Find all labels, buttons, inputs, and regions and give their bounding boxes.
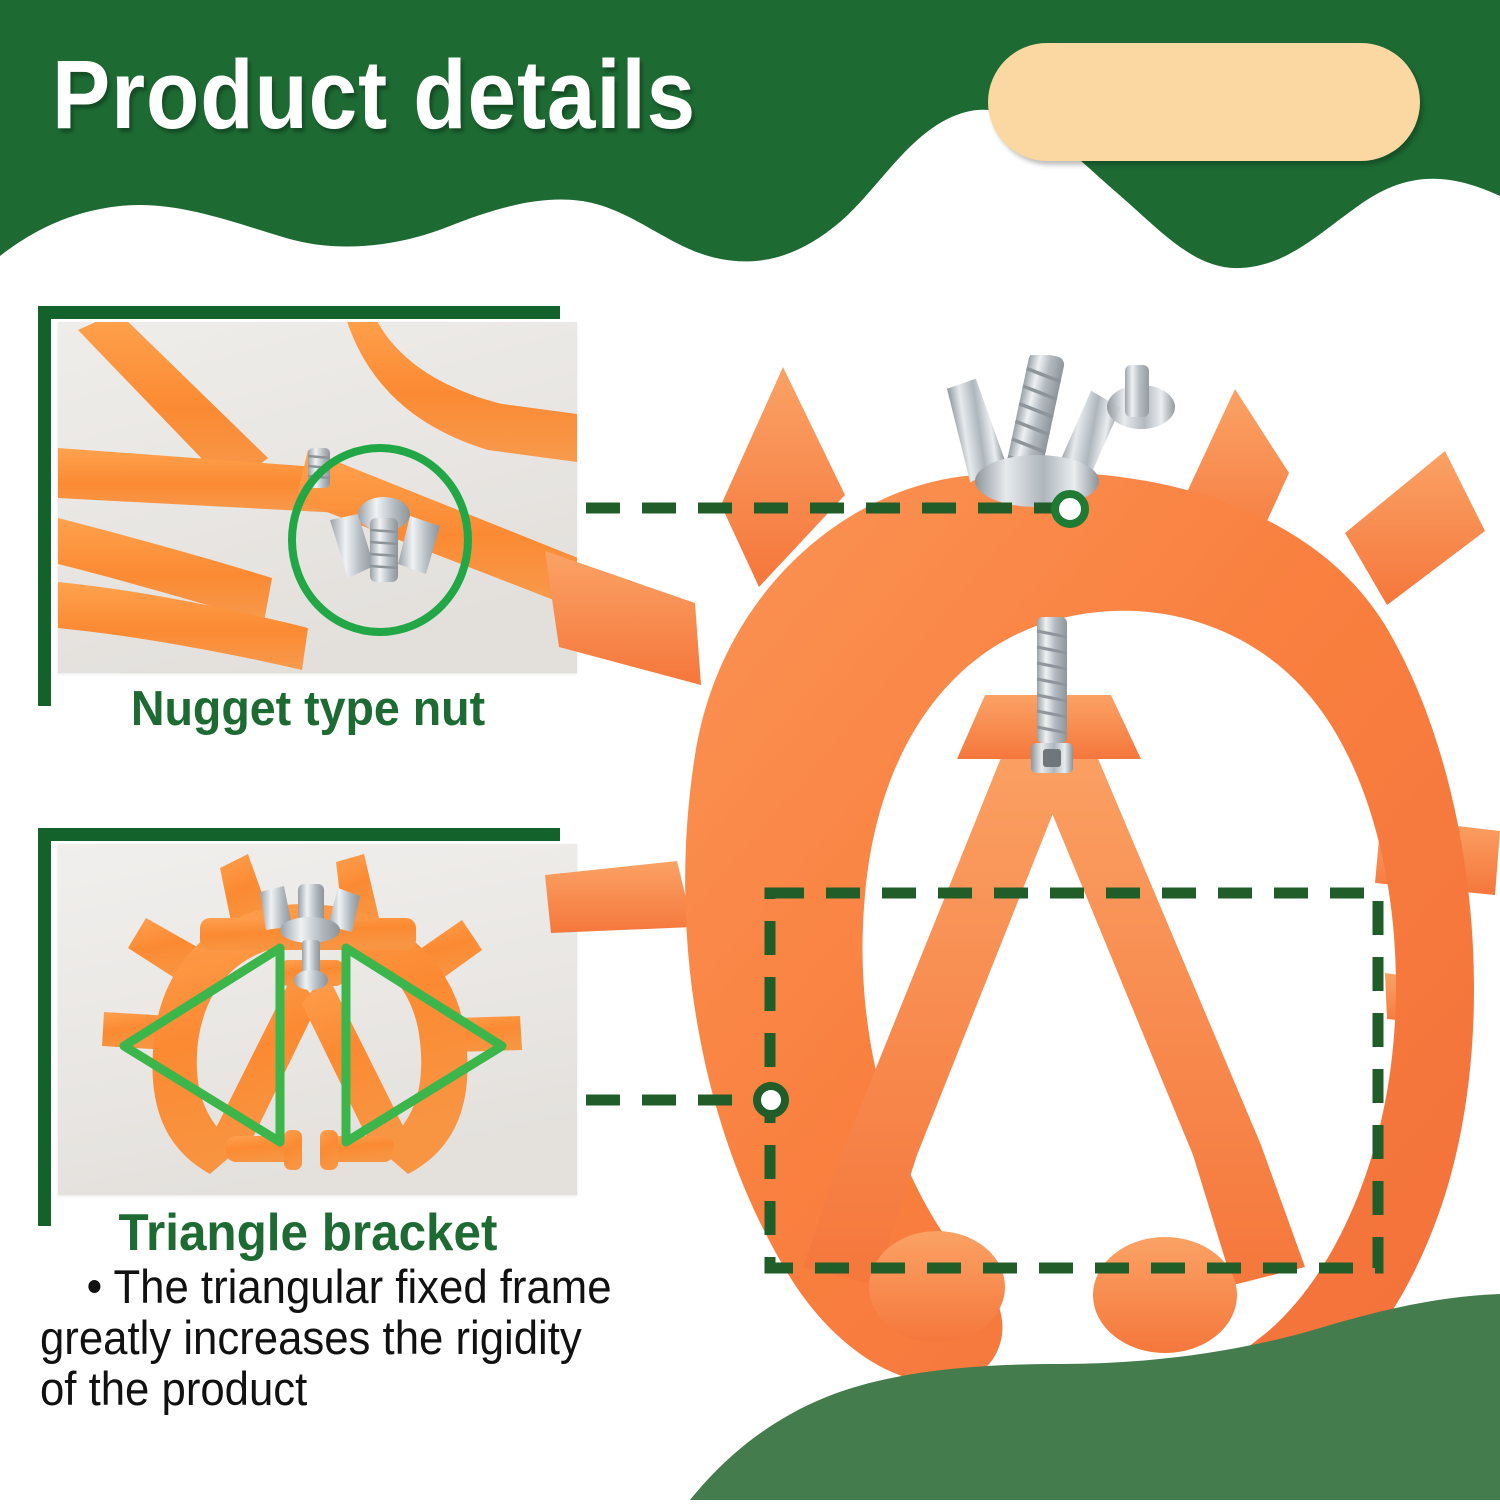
lower-nut-icon (1031, 743, 1073, 773)
panel-caption-nugget-type-nut: Nugget type nut (52, 681, 565, 737)
page-header: Product details (0, 0, 1500, 300)
bracket-feet (869, 1231, 1237, 1353)
panel-photo-nugget-type-nut (58, 322, 577, 673)
infographic-canvas: Product details (0, 0, 1500, 1500)
panel-photo-triangle-bracket (58, 844, 577, 1195)
detail-panel-nugget-type-nut: Nugget type nut (38, 306, 578, 726)
detail-panel-triangle-bracket: Triangle bracket (38, 828, 578, 1298)
bullet-dot-icon (88, 1280, 100, 1293)
bolt-screw-icon (1037, 617, 1067, 743)
wing-nut-secondary-icon (1107, 365, 1175, 429)
header-badge-pill (988, 43, 1420, 161)
page-title: Product details (52, 44, 696, 146)
product-ring (685, 472, 1474, 1405)
main-product-image (545, 355, 1500, 1405)
panel-caption-triangle-bracket: Triangle bracket (52, 1203, 565, 1263)
